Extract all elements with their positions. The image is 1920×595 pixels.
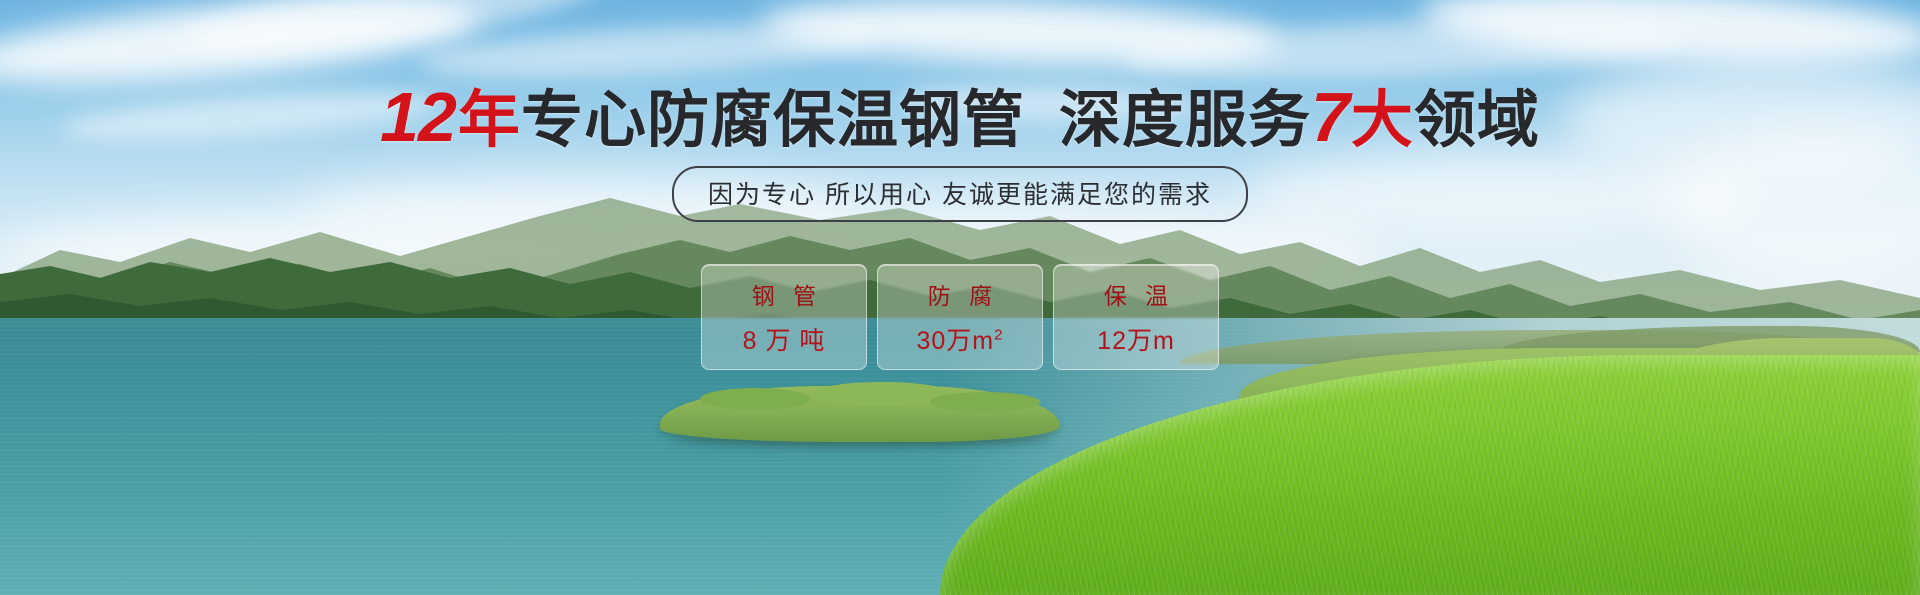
subtitle-container: 因为专心 所以用心 友诚更能满足您的需求 (0, 166, 1920, 222)
island-tuft (700, 388, 810, 410)
cloud-icon (419, 16, 881, 86)
subtitle-pill: 因为专心 所以用心 友诚更能满足您的需求 (672, 166, 1248, 222)
cloud-icon (759, 0, 1281, 73)
island-tuft (930, 392, 1040, 412)
stat-card-title: 防 腐 (922, 277, 998, 311)
hero-banner: 12年专心防腐保温钢管深度服务7大领域 因为专心 所以用心 友诚更能满足您的需求… (0, 0, 1920, 595)
headline-service-phrase: 深度服务 (1059, 86, 1311, 155)
stat-card-value-exponent: 2 (994, 327, 1003, 344)
cloud-icon (178, 0, 602, 71)
cloud-icon (1418, 0, 1920, 76)
headline-main-phrase: 专心防腐保温钢管 (521, 86, 1025, 155)
stat-card-title: 保 温 (1098, 277, 1174, 311)
stat-card-value-text: 30万m (917, 327, 995, 355)
headline-fields-word: 领域 (1414, 86, 1540, 155)
cloud-icon (1119, 12, 1681, 86)
stat-card-value-text: 8 万 吨 (743, 327, 826, 355)
stat-card-value: 12万m (1097, 321, 1175, 357)
stat-card-steel-pipe[interactable]: 钢 管 8 万 吨 (701, 264, 867, 370)
stat-card-title: 钢 管 (746, 277, 822, 311)
stat-card-anticorrosion[interactable]: 防 腐 30万m2 (877, 264, 1043, 370)
stat-card-value-text: 12万m (1097, 327, 1175, 355)
stat-card-row: 钢 管 8 万 吨 防 腐 30万m2 保 温 12万m (0, 264, 1920, 370)
headline-fields-number: 7 (1311, 78, 1351, 156)
headline-fields-unit: 大 (1351, 86, 1414, 155)
headline: 12年专心防腐保温钢管深度服务7大领域 (0, 82, 1920, 152)
headline-years-unit: 年 (458, 86, 521, 155)
stat-card-value: 30万m2 (917, 321, 1004, 357)
headline-years-number: 12 (380, 78, 458, 156)
stat-card-insulation[interactable]: 保 温 12万m (1053, 264, 1219, 370)
stat-card-value: 8 万 吨 (743, 321, 826, 357)
